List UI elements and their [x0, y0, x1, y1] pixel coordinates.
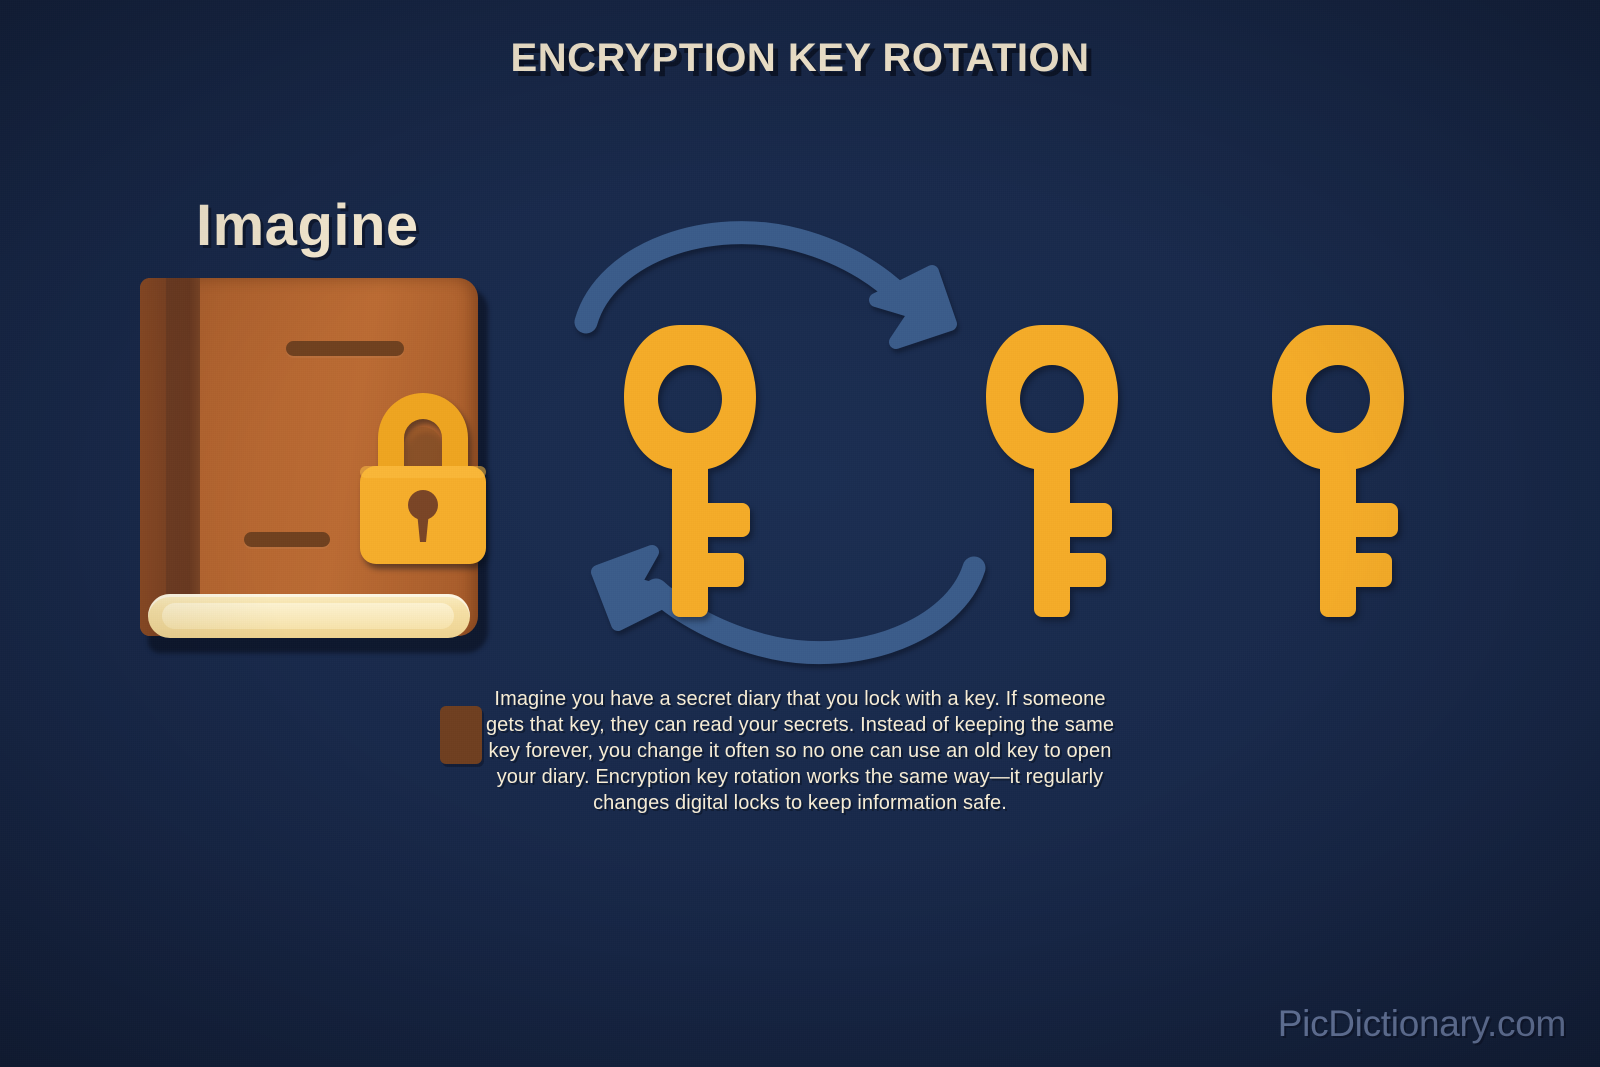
description-line: Imagine you have a secret diary that you… [62, 686, 1538, 712]
arrow-top-arc [586, 233, 908, 322]
key-icon-2 [986, 325, 1126, 617]
diary-title-line-1 [286, 341, 404, 356]
padlock-shackle-inner-shadow [404, 427, 442, 472]
key-icon-1 [624, 325, 764, 617]
description-line: key forever, you change it often so no o… [62, 738, 1538, 764]
diary-page-block [148, 594, 470, 638]
padlock-body-highlight [360, 466, 486, 478]
page-title: ENCRYPTION KEY ROTATION [0, 38, 1600, 80]
diary-title-line-2 [244, 532, 330, 547]
description-line: changes digital locks to keep informatio… [62, 790, 1538, 816]
diary-spine-edge [140, 278, 166, 636]
description-line: gets that key, they can read your secret… [62, 712, 1538, 738]
description-line: your diary. Encryption key rotation work… [62, 764, 1538, 790]
padlock-icon [356, 390, 490, 566]
diary-page-edge [162, 603, 454, 629]
key-shape [986, 325, 1118, 617]
infographic-poster: ENCRYPTION KEY ROTATION Imagine [0, 0, 1600, 1067]
key-shape [624, 325, 756, 617]
site-watermark: PicDictionary.com [1278, 1003, 1566, 1045]
description-paragraph: Imagine you have a secret diary that you… [62, 686, 1538, 816]
diary-spine [166, 278, 200, 636]
section-label-imagine: Imagine [196, 192, 419, 259]
key-shape [1272, 325, 1404, 617]
key-icon-3 [1272, 325, 1412, 617]
